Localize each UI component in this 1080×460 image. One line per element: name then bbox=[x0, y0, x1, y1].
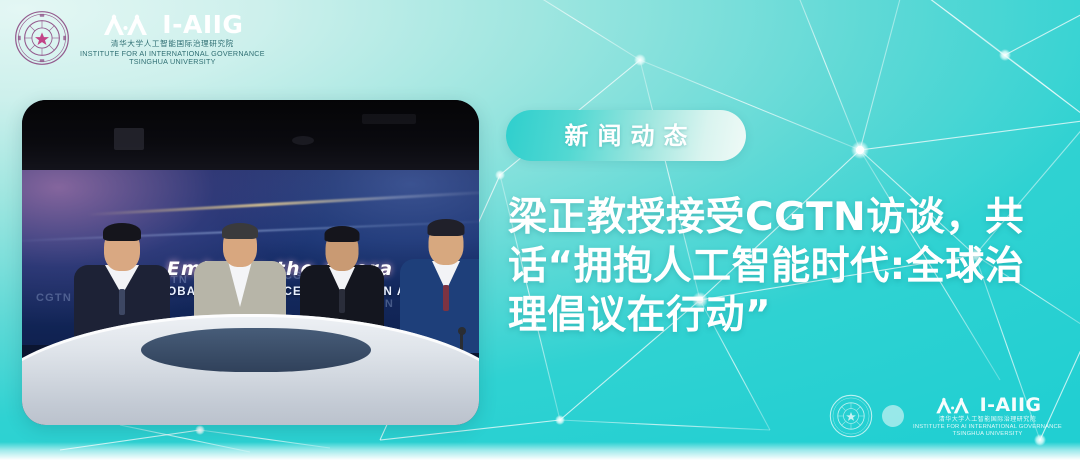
iaiig-wordmark-group: I-AIIG bbox=[101, 11, 243, 37]
footer-logo-text: I-AIIG 清华大学人工智能国际治理研究院 INSTITUTE FOR AI … bbox=[913, 395, 1062, 438]
header-wordmark: I-AIIG bbox=[162, 12, 243, 37]
news-banner: I-AIIG 清华大学人工智能国际治理研究院 INSTITUTE FOR AI … bbox=[0, 0, 1080, 460]
studio-ceiling bbox=[22, 100, 479, 178]
footer-logo-cn-name: 清华大学人工智能国际治理研究院 bbox=[939, 417, 1037, 423]
news-category-badge[interactable]: 新闻动态 bbox=[506, 110, 746, 161]
footer-wordmark-group: I-AIIG bbox=[934, 395, 1042, 415]
header-logo-cn-name: 清华大学人工智能国际治理研究院 bbox=[111, 40, 234, 48]
backdrop-light-streak bbox=[22, 190, 479, 222]
news-category-label: 新闻动态 bbox=[556, 124, 697, 148]
footer-logo-en-line1: INSTITUTE FOR AI INTERNATIONAL GOVERNANC… bbox=[913, 425, 1062, 431]
aiiig-triangles-icon bbox=[101, 11, 159, 37]
headline-title: 梁正教授接受CGTN访谈，共话“拥抱人工智能时代:全球治理倡议在行动” bbox=[508, 193, 1038, 340]
footer-wordmark: I-AIIG bbox=[980, 396, 1042, 415]
footer-logo-lockup: I-AIIG 清华大学人工智能国际治理研究院 INSTITUTE FOR AI … bbox=[829, 394, 1062, 438]
cgtn-watermark: CGTN bbox=[36, 292, 72, 304]
bottom-fade-strip bbox=[0, 442, 1080, 460]
aiiig-triangles-icon bbox=[934, 395, 978, 415]
header-logo-lockup: I-AIIG 清华大学人工智能国际治理研究院 INSTITUTE FOR AI … bbox=[14, 10, 265, 66]
news-photo: Embrace the AI era THE GLOBAL GOVERNANCE… bbox=[22, 100, 479, 425]
footer-logo-en-line2: TSINGHUA UNIVERSITY bbox=[953, 432, 1023, 438]
tsinghua-seal-icon bbox=[829, 394, 873, 438]
footer-logo-dot bbox=[882, 405, 904, 427]
header-logo-en-line2: TSINGHUA UNIVERSITY bbox=[129, 58, 216, 65]
desk-inset bbox=[141, 328, 371, 372]
tsinghua-seal-icon bbox=[14, 10, 70, 66]
header-logo-text: I-AIIG 清华大学人工智能国际治理研究院 INSTITUTE FOR AI … bbox=[80, 11, 265, 65]
header-logo-en-line1: INSTITUTE FOR AI INTERNATIONAL GOVERNANC… bbox=[80, 50, 265, 57]
